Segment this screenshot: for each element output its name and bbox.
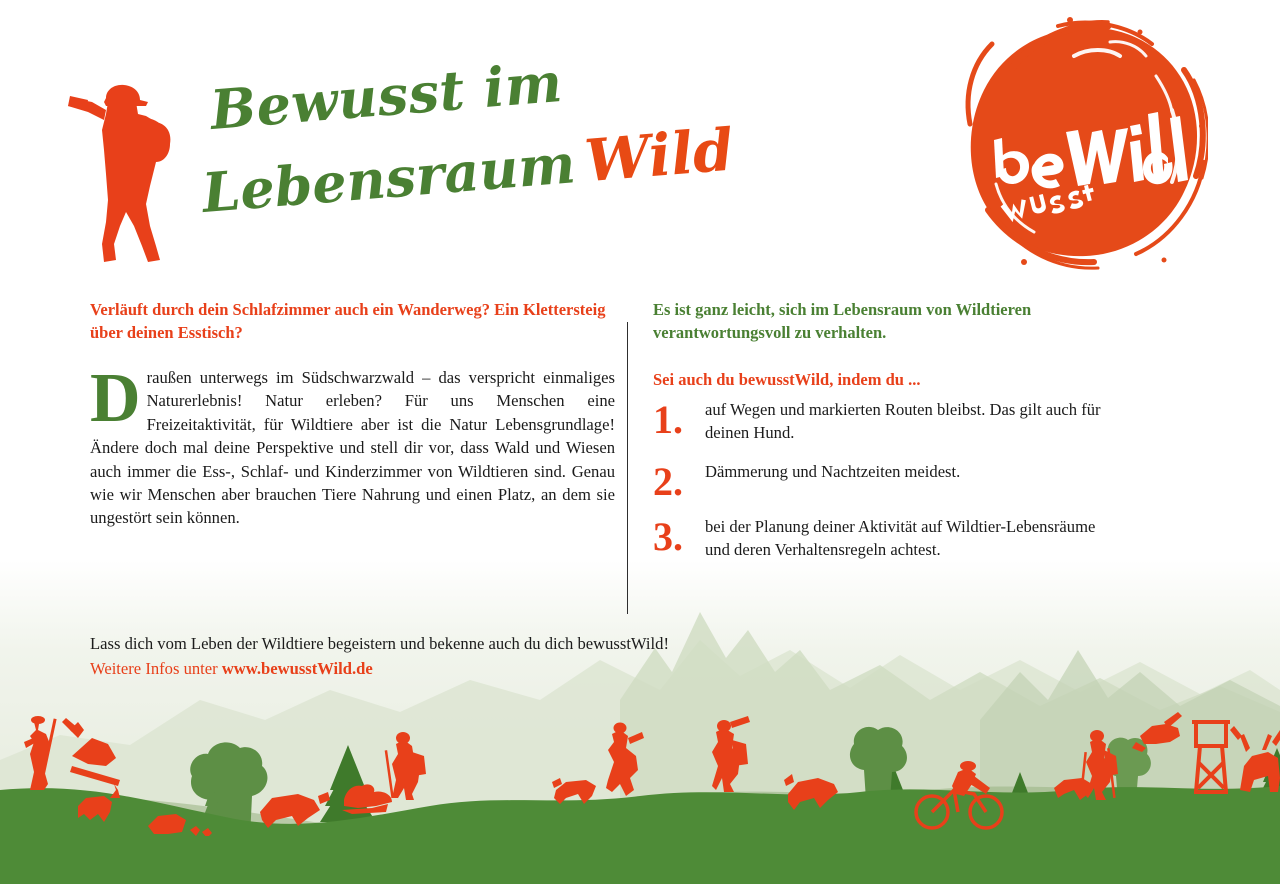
rules-list: 1. auf Wegen und markierten Routen bleib… (653, 396, 1123, 562)
footer-logos: Naturpark Südschwarzwald (0, 800, 1280, 884)
list-item: 2. Dämmerung und Nachtzeiten meidest. (653, 458, 1123, 500)
list-item: 1. auf Wegen und markierten Routen bleib… (653, 396, 1123, 445)
drop-cap: D (90, 370, 141, 428)
list-number: 3. (653, 513, 705, 555)
poster-title: Bewusst im LebensraumWild (205, 78, 925, 248)
fox-icon (1054, 770, 1108, 800)
runner-icon (606, 723, 644, 797)
list-item-text: bei der Planung deiner Aktivität auf Wil… (705, 513, 1123, 562)
hare-jumping-icon (1132, 712, 1182, 752)
list-number: 2. (653, 458, 705, 500)
bewusstwild-logo[interactable] (958, 14, 1208, 276)
hunting-tower-icon (1192, 722, 1230, 792)
intro-paragraph-text: raußen unterwegs im Südschwarzwald – das… (90, 368, 615, 527)
brush-circle-badge-icon (958, 14, 1208, 276)
closing-line-1: Lass dich vom Leben der Wildtiere begeis… (90, 632, 970, 655)
website-url[interactable]: www.bewusstWild.de (222, 659, 373, 678)
hunter-with-rifle-icon (24, 716, 57, 790)
closing-line-2: Weitere Infos unter www.bewusstWild.de (90, 657, 970, 680)
list-number: 1. (653, 396, 705, 438)
title-line-3: Wild (582, 115, 736, 195)
hiker-with-backpack-icon (385, 732, 426, 800)
rules-list-heading: Sei auch du bewusstWild, indem du ... (653, 370, 1123, 390)
intro-paragraph: Draußen unterwegs im Südschwarzwald – da… (90, 366, 615, 530)
list-item: 3. bei der Planung deiner Aktivität auf … (653, 513, 1123, 562)
left-column: Verläuft durch dein Schlafzimmer auch ei… (90, 298, 615, 530)
column-divider (627, 322, 628, 614)
closing-prefix: Weitere Infos unter (90, 659, 222, 678)
hiker-with-binoculars-icon (712, 716, 750, 792)
right-heading: Es ist ganz leicht, sich im Lebensraum v… (653, 298, 1123, 344)
left-heading: Verläuft durch dein Schlafzimmer auch ei… (90, 298, 615, 344)
list-item-text: Dämmerung und Nachtzeiten meidest. (705, 458, 1123, 483)
title-line-2: Lebensraum (200, 131, 578, 225)
snowboarder-icon (62, 718, 120, 786)
nordic-walker-icon (1080, 730, 1118, 800)
right-column: Es ist ganz leicht, sich im Lebensraum v… (653, 298, 1123, 575)
poster-root: Bewusst im LebensraumWild (0, 0, 1280, 884)
hiker-with-binoculars-header-icon (62, 74, 194, 266)
stag-icon (1230, 726, 1280, 792)
closing-block: Lass dich vom Leben der Wildtiere begeis… (90, 632, 970, 680)
title-line-1: Bewusst im (208, 50, 565, 142)
list-item-text: auf Wegen und markierten Routen bleibst.… (705, 396, 1123, 445)
